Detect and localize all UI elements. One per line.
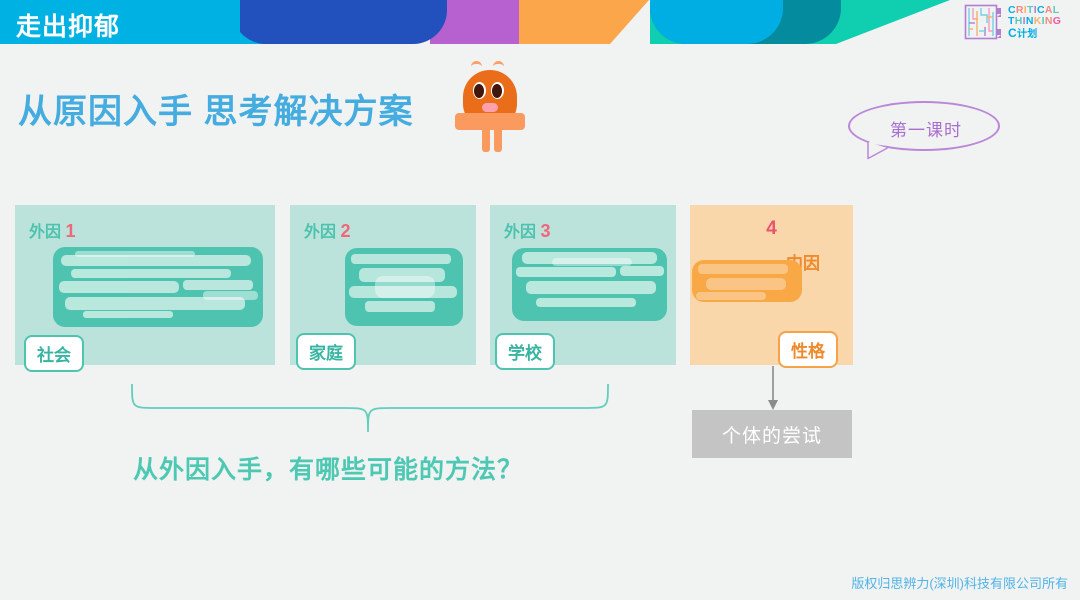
card-2-tag[interactable]: 家庭 [296,333,356,370]
header-bar: 走出抑郁 [0,0,1080,44]
mascot-band [455,113,525,130]
brand-logo: CRITICAL THINKING C计划 [964,2,1076,44]
card-4-heading: 4 [690,218,853,240]
card-1-label: 外因 [29,224,61,241]
mascot-leg-left [482,127,490,152]
card-1-heading: 外因 1 [29,218,75,242]
mascot-leg-right [494,127,502,152]
mascot-antenna-left [471,61,482,67]
bubble-tail-icon [865,140,895,162]
discussion-question: 从外因入手，有哪些可能的方法？ [133,450,523,486]
card-1-tag[interactable]: 社会 [24,335,84,372]
mascot-mouth [482,103,498,112]
mascot-pupil-right [492,84,502,98]
header-title: 走出抑郁 [16,7,120,43]
card-2-label: 外因 [304,224,336,241]
slide-root: 走出抑郁 [0,0,1080,600]
down-arrow-icon [763,366,783,411]
logo-cn-text: 计划 [1017,29,1038,40]
header-shape-cyan-right [650,0,783,44]
card-4-redacted-content [692,260,802,302]
logo-wordmark: CRITICAL THINKING C计划 [1008,5,1061,40]
card-3-redacted-content [512,248,667,321]
outcome-box[interactable]: 个体的尝试 [692,410,852,458]
maze-logo-icon [964,3,1004,43]
page-title: 从原因入手 思考解决方案 [18,84,413,133]
card-2-redacted-content [345,248,463,326]
header-shape-orange [519,0,649,44]
orange-mascot-icon [455,60,525,152]
header-shape-blue [232,0,447,44]
card-3-label: 外因 [504,224,536,241]
card-2-heading: 外因 2 [304,218,350,242]
grouping-brace-icon [130,382,610,434]
card-3-tag[interactable]: 学校 [495,333,555,370]
card-3-heading: 外因 3 [504,218,550,242]
card-1-number: 1 [65,221,75,241]
outcome-box-label: 个体的尝试 [722,421,822,448]
card-4-number: 4 [766,218,777,239]
mascot-pupil-left [474,84,484,98]
logo-line-cn: C计划 [1008,27,1061,40]
copyright-footer: 版权归思辨力(深圳)科技有限公司所有 [851,573,1068,592]
card-1-redacted-content [53,247,263,327]
card-3-number: 3 [540,221,550,241]
logo-c-letter: C [1008,26,1017,40]
card-2-number: 2 [340,221,350,241]
card-4-tag[interactable]: 性格 [778,331,838,368]
mascot-antenna-right [493,61,504,67]
